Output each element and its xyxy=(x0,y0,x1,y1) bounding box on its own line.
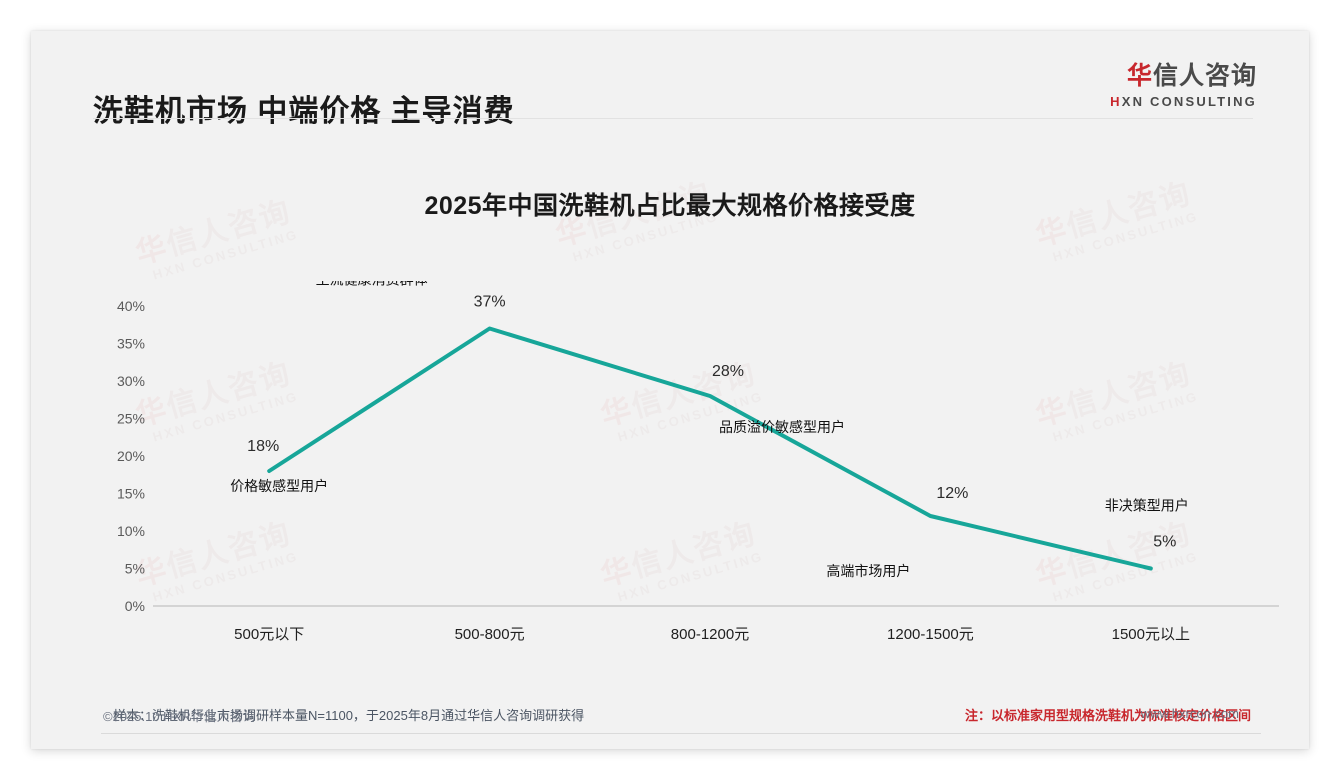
slide-header: 洗鞋机市场 中端价格 主导消费 华信人咨询 HXN CONSULTING xyxy=(31,31,1309,121)
y-axis-tick-label: 5% xyxy=(125,561,145,577)
logo-english: HXN CONSULTING xyxy=(1110,94,1257,109)
chart-title: 2025年中国洗鞋机占比最大规格价格接受度 xyxy=(31,186,1309,222)
watermark-cn-red: 华 xyxy=(132,230,172,271)
y-axis-tick-label: 10% xyxy=(117,523,145,539)
y-axis-tick-label: 25% xyxy=(117,411,145,427)
y-axis-tick-label: 15% xyxy=(117,486,145,502)
x-axis-tick-label: 800-1200元 xyxy=(671,626,749,643)
data-point-label: 5% xyxy=(1153,534,1176,551)
company-logo: 华信人咨询 HXN CONSULTING xyxy=(1110,63,1257,109)
chart-canvas: 40%35%30%25%20%15%10%5%0%500元以下500-800元8… xyxy=(101,281,1281,671)
slide-card: 华信人咨询 HXN CONSULTING 华信人咨询 HXN CONSULTIN… xyxy=(31,31,1309,749)
data-point-annotation: 主流健康消费群体 xyxy=(316,281,428,288)
line-chart: 40%35%30%25%20%15%10%5%0%500元以下500-800元8… xyxy=(101,281,1281,671)
y-axis-tick-label: 20% xyxy=(117,448,145,464)
slide-footer: ©2025.10 HXR华信人咨询 www.hxrcon.com xyxy=(31,694,1309,749)
data-point-annotation: 品质溢价敏感型用户 xyxy=(719,419,845,435)
x-axis-tick-label: 500元以下 xyxy=(234,626,304,643)
y-axis-tick-label: 0% xyxy=(125,598,145,614)
logo-en-red: H xyxy=(1110,94,1122,109)
data-point-label: 37% xyxy=(474,294,506,311)
data-point-annotation: 高端市场用户 xyxy=(826,563,910,579)
y-axis-tick-label: 30% xyxy=(117,373,145,389)
logo-en-rest: XN CONSULTING xyxy=(1122,94,1257,109)
y-axis-tick-label: 40% xyxy=(117,298,145,314)
header-divider xyxy=(93,118,1253,119)
x-axis-tick-label: 1200-1500元 xyxy=(887,626,974,643)
data-point-label: 18% xyxy=(247,438,279,455)
logo-cn-rest: 信人咨询 xyxy=(1153,62,1257,90)
data-point-label: 12% xyxy=(936,485,968,502)
data-point-annotation: 非决策型用户 xyxy=(1105,498,1189,514)
page-title: 洗鞋机市场 中端价格 主导消费 xyxy=(93,86,515,130)
y-axis-tick-label: 35% xyxy=(117,336,145,352)
website-link[interactable]: www.hxrcon.com xyxy=(1141,706,1239,721)
watermark-en: HXN CONSULTING xyxy=(151,226,300,282)
x-axis-tick-label: 1500元以上 xyxy=(1112,626,1190,643)
copyright-text: ©2025.10 HXR华信人咨询 xyxy=(103,706,256,725)
data-point-label: 28% xyxy=(712,363,744,380)
logo-chinese: 华信人咨询 xyxy=(1110,63,1257,91)
logo-cn-red: 华 xyxy=(1127,62,1153,90)
x-axis-tick-label: 500-800元 xyxy=(455,626,525,643)
series-line xyxy=(269,329,1151,569)
data-point-annotation: 价格敏感型用户 xyxy=(230,478,328,494)
